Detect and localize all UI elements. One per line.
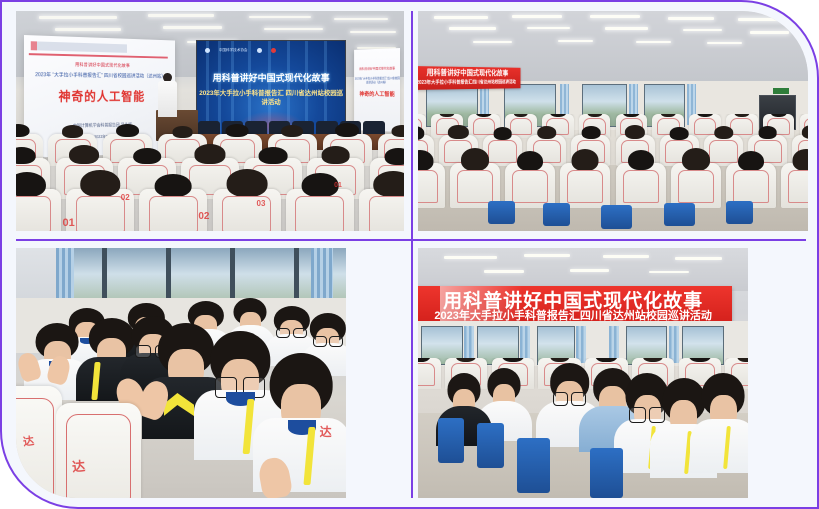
divider-vertical (411, 11, 413, 498)
seat (16, 189, 61, 232)
side-subtitle-red: 用科普讲好中国式现代化故事 (354, 67, 400, 72)
chair (477, 423, 503, 468)
speaker-person (158, 73, 177, 117)
seat-number: 01 (334, 182, 342, 189)
seat-number: 03 (257, 199, 266, 208)
banner-line-1: 用科普讲好中国式现代化故事 (418, 67, 521, 78)
chair-marking: 达 (22, 432, 35, 449)
seat (213, 189, 281, 232)
seat (418, 163, 445, 207)
curtain (56, 248, 74, 306)
led-line-2: 2023年大手拉小手科普报告汇 四川省达州站校园巡讲活动 (197, 88, 344, 106)
red-banner: 用科普讲好中国式现代化故事 2023年大手拉小手科普报告汇四川省达州站校园巡讲活… (418, 66, 521, 90)
led-line-1: 用科普讲好中国式现代化故事 (197, 71, 344, 84)
slide-footer-1: 中国计算机学会科普报告团 吴永辉 (24, 121, 175, 129)
photo-top-right-content: 用科普讲好中国式现代化故事 2023年大手拉小手科普报告汇四川省达州站校园巡讲活… (418, 11, 808, 231)
seat (560, 163, 610, 207)
side-title: 神奇的人工智能 (354, 90, 400, 98)
seat (616, 163, 666, 207)
partner-logo-red-icon (271, 48, 276, 53)
slide-title: 神奇的人工智能 (24, 86, 175, 105)
seat (286, 189, 354, 232)
side-projector-screen: 用科普讲好中国式现代化故事 2023年“大手拉小手科普报告汇”四川省校园巡讲活动… (354, 48, 400, 132)
photo-grid: 用科普讲好中国式现代化故事 2023年 “大手拉小手科普报告汇” 四川省校园巡讲… (2, 2, 819, 509)
seat-number: 02 (121, 193, 130, 202)
curtain (311, 248, 333, 306)
student (702, 373, 745, 458)
photo-top-left[interactable]: 用科普讲好中国式现代化故事 2023年 “大手拉小手科普报告汇” 四川省校园巡讲… (16, 11, 404, 231)
side-subtitle-blue: 2023年“大手拉小手科普报告汇”四川省校园巡讲活动（达州站） (354, 77, 400, 85)
photo-top-left-content: 用科普讲好中国式现代化故事 2023年 “大手拉小手科普报告汇” 四川省校园巡讲… (16, 11, 404, 231)
seat-number: 01 (63, 217, 75, 229)
audience-seating: 02 01 02 03 01 (16, 130, 404, 231)
chair-marking: 达 (320, 423, 332, 440)
photo-bottom-left-content: 达 达 达 (16, 248, 346, 498)
ceiling (418, 248, 748, 291)
red-banner: 用科普讲好中国式现代化故事 2023年大手拉小手科普报告汇四川省达州站校园巡讲活… (418, 286, 732, 324)
slide-header-bar (30, 42, 126, 53)
seat (139, 189, 207, 232)
slide-rule (29, 54, 168, 59)
student-right-front (270, 353, 333, 473)
slide-subtitle-blue: 2023年 “大手拉小手科普报告汇” 四川省校园巡讲活动（达州站） (24, 71, 175, 80)
chair (590, 448, 623, 498)
seat (671, 163, 721, 207)
chair-foreground (56, 403, 142, 498)
photo-bottom-right-content: 用科普讲好中国式现代化故事 2023年大手拉小手科普报告汇四川省达州站校园巡讲活… (418, 248, 748, 498)
collage-frame: 用科普讲好中国式现代化故事 2023年 “大手拉小手科普报告汇” 四川省校园巡讲… (0, 0, 819, 509)
seat (781, 163, 808, 207)
crowd (418, 114, 808, 231)
banner-glare (440, 286, 522, 324)
org-logo-icon (205, 48, 210, 53)
chair (517, 438, 550, 493)
banner-line-2: 2023年大手拉小手科普报告汇四川省达州站校园巡讲活动 (418, 79, 521, 86)
photo-bottom-right[interactable]: 用科普讲好中国式现代化故事 2023年大手拉小手科普报告汇四川省达州站校园巡讲活… (418, 248, 748, 498)
led-logo-label: 中国科学技术协会 (219, 48, 248, 53)
led-logo-row: 中国科学技术协会 (205, 48, 276, 53)
chair (438, 418, 464, 463)
exit-sign-icon (773, 88, 789, 94)
seat (359, 189, 404, 232)
chair-marking: 达 (71, 455, 86, 475)
seat (418, 358, 441, 389)
photo-top-right[interactable]: 用科普讲好中国式现代化故事 2023年大手拉小手科普报告汇四川省达州站校园巡讲活… (418, 11, 808, 231)
partner-logo-icon (257, 48, 262, 53)
seat-number: 02 (198, 211, 209, 222)
photo-bottom-left[interactable]: 达 达 达 (16, 248, 346, 498)
slide-subtitle-red: 用科普讲好中国式现代化故事 (24, 61, 175, 70)
